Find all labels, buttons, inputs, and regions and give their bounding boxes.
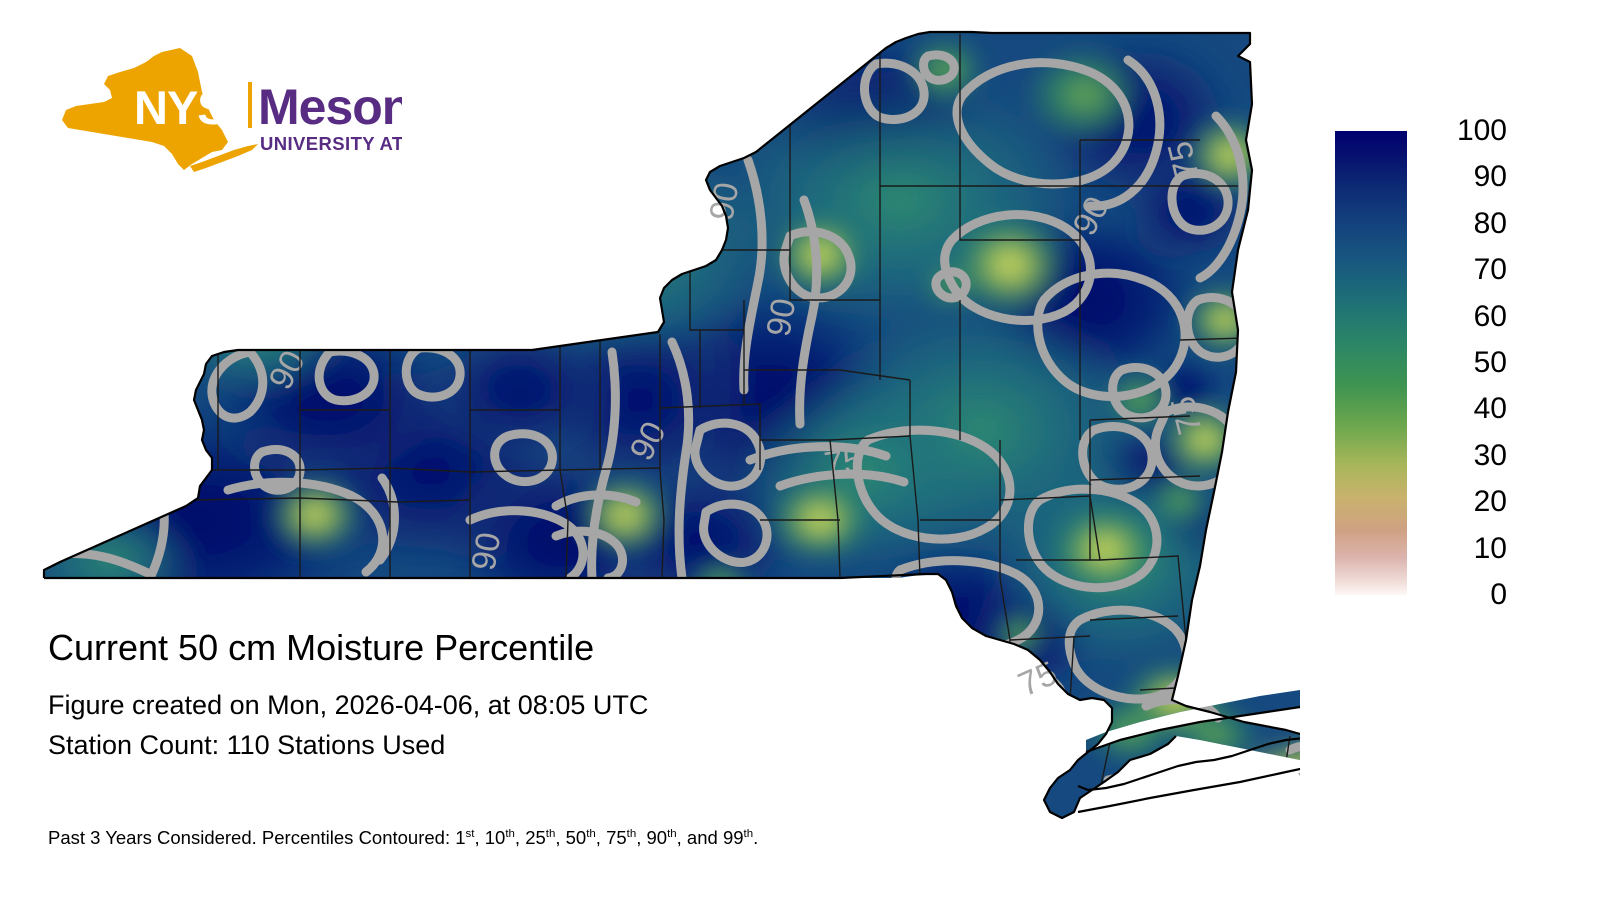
footnote-value: 1 — [455, 827, 465, 848]
footnote-suffix: th — [586, 828, 596, 840]
station-count-line: Station Count: 110 Stations Used — [48, 725, 1068, 765]
figure-footnote: Past 3 Years Considered. Percentiles Con… — [48, 826, 758, 850]
colorbar-tick: 20 — [1421, 487, 1507, 517]
page-title: Current 50 cm Moisture Percentile — [48, 625, 1068, 671]
footnote-suffix: st — [466, 828, 475, 840]
footnote-value: 50 — [566, 827, 587, 848]
colorbar: 100 90 80 70 60 50 40 30 20 10 0 — [1335, 131, 1575, 601]
footnote-suffix: th — [546, 828, 556, 840]
footnote-value: 25 — [525, 827, 546, 848]
figure-text-block: Current 50 cm Moisture Percentile Figure… — [48, 625, 1068, 765]
footnote-prefix: Past 3 Years Considered. Percentiles Con… — [48, 827, 455, 848]
moisture-percentile-map: 90 90 90 90 90 90 75 75 75 75 75 — [0, 0, 1300, 900]
footnote-value: 99 — [723, 827, 744, 848]
colorbar-tick: 80 — [1421, 209, 1507, 239]
contour-label: 90 — [759, 296, 803, 340]
colorbar-tick: 10 — [1421, 534, 1507, 564]
footnote-suffix: th — [744, 828, 754, 840]
figure-created-line: Figure created on Mon, 2026-04-06, at 08… — [48, 685, 1068, 725]
colorbar-tick-labels: 100 90 80 70 60 50 40 30 20 10 0 — [1421, 131, 1561, 595]
colorbar-tick: 40 — [1421, 394, 1507, 424]
contour-label: 75 — [822, 441, 865, 484]
colorbar-tick: 30 — [1421, 441, 1507, 471]
footnote-tail: . — [753, 827, 758, 848]
colorbar-tick: 70 — [1421, 255, 1507, 285]
footnote-value: 75 — [606, 827, 627, 848]
footnote-value: 90 — [647, 827, 668, 848]
footnote-suffix: th — [627, 828, 637, 840]
footnote-value: 10 — [485, 827, 506, 848]
colorbar-tick: 60 — [1421, 302, 1507, 332]
colorbar-tick: 100 — [1421, 116, 1507, 146]
colorbar-tick: 90 — [1421, 162, 1507, 192]
footnote-suffix: th — [667, 828, 677, 840]
colorbar-gradient — [1335, 131, 1407, 595]
colorbar-tick: 50 — [1421, 348, 1507, 378]
footnote-suffix: th — [505, 828, 515, 840]
contour-label: 90 — [464, 530, 508, 574]
map-panel: 90 90 90 90 90 90 75 75 75 75 75 — [0, 0, 1300, 900]
colorbar-tick: 0 — [1421, 580, 1507, 610]
